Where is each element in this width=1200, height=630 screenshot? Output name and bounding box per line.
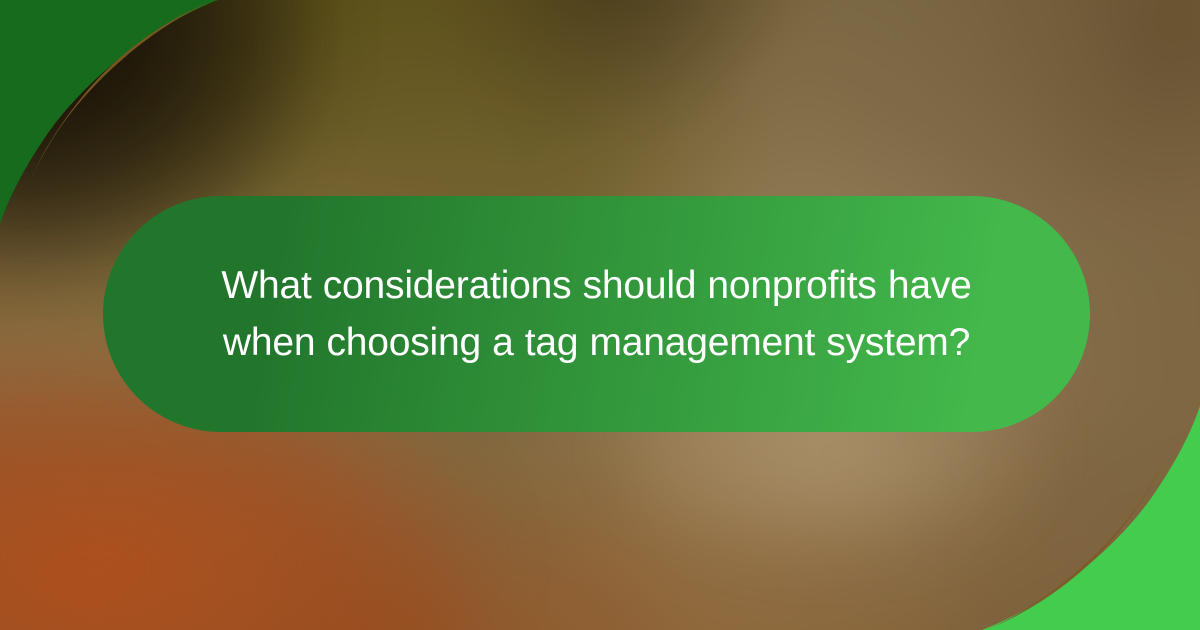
social-share-card: What considerations should nonprofits ha… <box>0 0 1200 630</box>
question-card: What considerations should nonprofits ha… <box>103 196 1090 432</box>
question-text: What considerations should nonprofits ha… <box>207 257 987 371</box>
